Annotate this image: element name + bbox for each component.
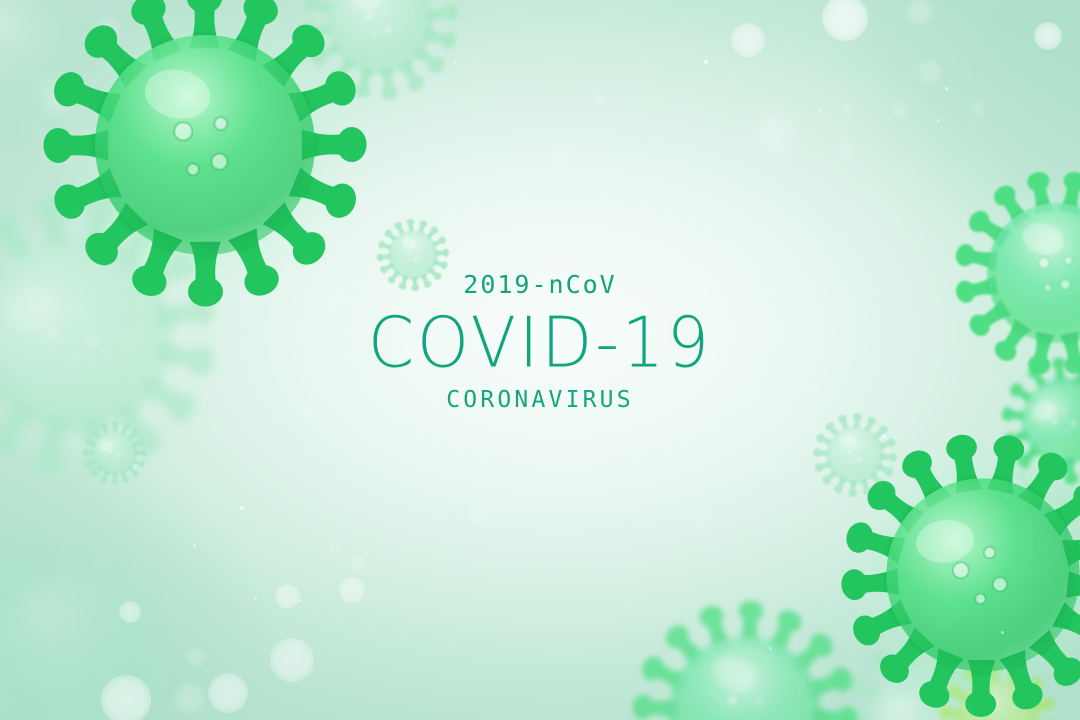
- bokeh-r-3: [840, 103, 851, 114]
- speck-3: [937, 119, 940, 122]
- bokeh-bc-2: [275, 584, 300, 609]
- bokeh-tr-3: [731, 23, 765, 57]
- bokeh-tr-4: [1034, 22, 1062, 50]
- virus-left-faint: [0, 0, 135, 185]
- speck-5: [240, 506, 244, 510]
- bokeh-r-1: [754, 112, 796, 154]
- page-title: COVID-19: [0, 308, 1080, 378]
- bokeh-bl-1: [101, 675, 151, 720]
- virus-br-small-pale: [803, 403, 907, 507]
- speck-2: [945, 87, 948, 90]
- speck-10: [612, 555, 615, 558]
- virus-bottom-right-main: [819, 411, 1080, 720]
- virus-bottom-center: [591, 559, 899, 720]
- speck-7: [254, 597, 257, 600]
- virus-bl-backdrop: [0, 523, 187, 720]
- speck-1: [704, 60, 708, 64]
- bokeh-ml-3: [339, 577, 365, 603]
- bokeh-mr-3: [1018, 538, 1062, 582]
- title-block: 2019-nCoV COVID-19 CORONAVIRUS: [0, 272, 1080, 412]
- bokeh-ml-2: [95, 17, 121, 43]
- speck-12: [454, 61, 457, 64]
- bokeh-tr-7: [971, 101, 985, 115]
- speck-14: [769, 647, 772, 650]
- eyebrow-label: 2019-nCoV: [0, 272, 1080, 297]
- bokeh-tr-1: [822, 0, 868, 41]
- bokeh-mr-1: [927, 595, 961, 629]
- virus-bottom-lime: [922, 644, 1073, 720]
- bokeh-r-2: [838, 142, 854, 158]
- bokeh-m-3: [692, 512, 708, 528]
- bokeh-tr-6: [890, 102, 907, 119]
- bokeh-mr-2: [999, 637, 1021, 659]
- poster-canvas: 2019-nCoV COVID-19 CORONAVIRUS: [0, 0, 1080, 720]
- bokeh-tr-2: [907, 0, 933, 25]
- bokeh-m-4: [764, 464, 776, 476]
- virus-top-center-pale: [290, 0, 471, 112]
- virus-bottom-right-pale: [805, 599, 1051, 720]
- bokeh-c-1: [553, 153, 567, 167]
- bokeh-ml-1: [37, 75, 79, 117]
- bokeh-bl-4: [186, 647, 206, 667]
- bokeh-bc-4: [329, 542, 341, 554]
- bokeh-tr-5: [918, 60, 942, 84]
- bokeh-bl-5: [208, 673, 248, 713]
- bokeh-bl-2: [175, 683, 205, 713]
- speck-13: [882, 434, 886, 438]
- speck-8: [299, 599, 302, 602]
- speck-4: [819, 109, 822, 112]
- bokeh-bc-3: [350, 555, 365, 570]
- bokeh-m-2: [514, 442, 527, 455]
- virus-left-small: [76, 414, 154, 492]
- speck-9: [1001, 631, 1004, 634]
- bokeh-m-1: [467, 507, 485, 525]
- bokeh-c-2: [595, 95, 605, 105]
- bokeh-bc-1: [270, 638, 314, 682]
- virus-br-corner-pale: [980, 396, 1080, 551]
- bokeh-bl-3: [119, 601, 141, 623]
- speck-6: [193, 544, 196, 547]
- subtitle-label: CORONAVIRUS: [0, 389, 1080, 412]
